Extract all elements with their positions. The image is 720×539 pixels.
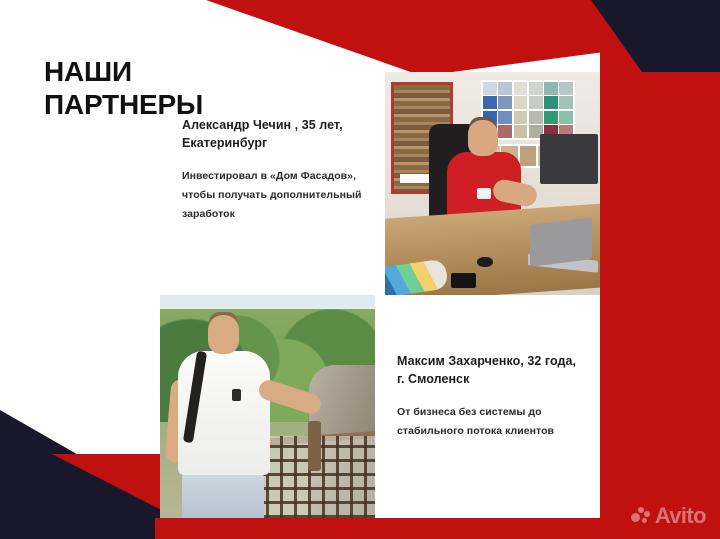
testimonial-row: Максим Захарченко, 32 года, г. Смоленск … <box>160 295 600 518</box>
testimonial-photo-office <box>385 72 600 295</box>
testimonial-text-pane: Максим Захарченко, 32 года, г. Смоленск … <box>375 295 600 518</box>
testimonial-name: Максим Захарченко, 32 года, г. Смоленск <box>397 353 578 389</box>
avito-dots-icon <box>631 507 650 526</box>
page-title: НАШИ ПАРТНЕРЫ <box>44 55 344 121</box>
laptop-icon <box>530 217 592 267</box>
testimonials-card: Александр Чечин , 35 лет, Екатеринбург И… <box>160 72 600 518</box>
slide-canvas: НАШИ ПАРТНЕРЫ Александр Чечин , 35 лет, … <box>0 0 720 539</box>
testimonial-photo-outdoor <box>160 295 375 518</box>
person-portrait-icon <box>208 315 239 354</box>
avito-brand-label: Avito <box>655 505 706 527</box>
bottom-red-strip <box>155 518 600 539</box>
right-red-band <box>600 0 720 539</box>
testimonial-quote: Инвестировал в «Дом Фасадов», чтобы полу… <box>182 167 363 224</box>
mouse-icon <box>477 257 493 267</box>
avito-watermark: Avito <box>631 505 706 527</box>
person-portrait-icon <box>468 120 498 156</box>
testimonial-quote: От бизнеса без системы до стабильного по… <box>397 403 578 441</box>
testimonial-name: Александр Чечин , 35 лет, Екатеринбург <box>182 117 363 153</box>
